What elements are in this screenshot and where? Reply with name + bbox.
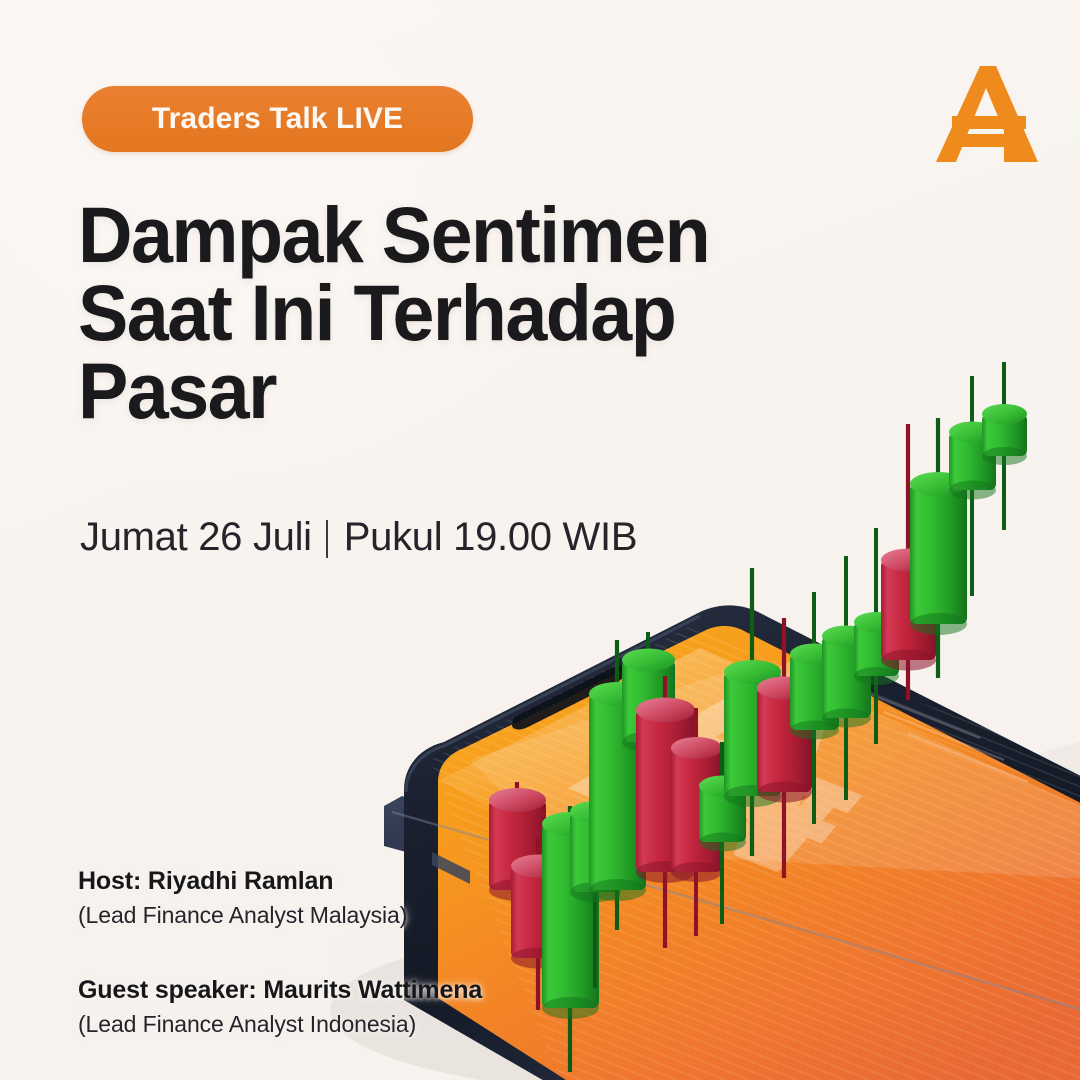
credit-guest-name: Guest speaker: Maurits Wattimena: [78, 975, 558, 1005]
credit-host-name: Host: Riyadhi Ramlan: [78, 866, 558, 896]
poster-canvas: Traders Talk LIVE Dampak Sentimen Saat I…: [0, 0, 1080, 1080]
credit-guest: Guest speaker: Maurits Wattimena (Lead F…: [78, 975, 558, 1040]
credit-host: Host: Riyadhi Ramlan (Lead Finance Analy…: [78, 866, 558, 931]
credit-host-role: (Lead Finance Analyst Malaysia): [78, 901, 558, 931]
credits-block: Host: Riyadhi Ramlan (Lead Finance Analy…: [78, 866, 558, 1040]
credit-guest-role: (Lead Finance Analyst Indonesia): [78, 1010, 558, 1040]
